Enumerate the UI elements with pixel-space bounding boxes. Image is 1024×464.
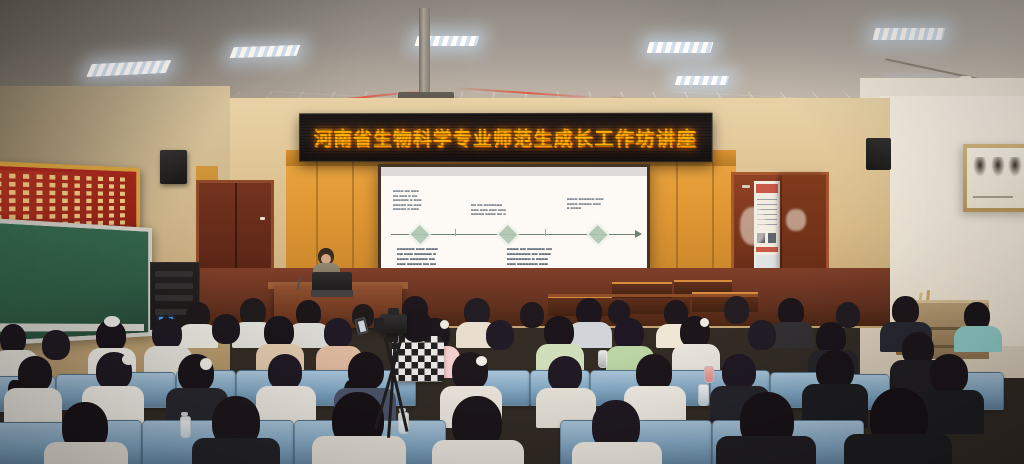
- framed-calligraphy: [963, 144, 1024, 212]
- door-handle-icon[interactable]: [260, 217, 265, 220]
- audience-head: [724, 296, 749, 324]
- projection-screen: ▃▃▃▃ ▃▃ ▃▃▃▃▃ ▃▃▃ ▃ ▃▃▃▃▃▃▃▃ ▃ ▃▃▃▃▃▃▃▃ …: [381, 167, 647, 270]
- presenter-laptop-screen: [312, 272, 352, 292]
- audience-body: [716, 436, 816, 464]
- audience-head: [722, 354, 756, 390]
- slide-text-block: ▃▃▃▃ ▃▃▃▃▃▃ ▃▃▃▃▃▃▃ ▃▃▃▃▃ ▃▃▃▃ ▃▃▃▃: [567, 196, 629, 210]
- audience-body: [954, 326, 1002, 352]
- audience-area: [0, 296, 1024, 464]
- audience-head: [930, 354, 968, 394]
- hair-clip: [700, 318, 709, 327]
- poster-footer: [756, 247, 778, 252]
- wall-speaker-icon: [866, 138, 891, 170]
- audience-head: [486, 320, 514, 350]
- timeline-node-marker: [586, 222, 611, 247]
- water-bottle[interactable]: [598, 350, 608, 368]
- hair-tie: [200, 358, 212, 370]
- tripod-head[interactable]: [386, 333, 398, 342]
- rack-unit: [155, 283, 193, 289]
- water-bottle[interactable]: [704, 366, 714, 383]
- poster-image: [768, 233, 776, 243]
- audience-body: [192, 438, 280, 464]
- timeline-node-marker: [496, 222, 521, 247]
- audience-body: [770, 322, 814, 348]
- audience-head: [324, 318, 352, 348]
- calligraphy-canvas: [967, 148, 1024, 208]
- lecture-hall-photo: 河南省生物科学专业师范生成长工作坊讲座 ▃▃▃▃ ▃▃ ▃▃▃▃▃ ▃▃▃ ▃ …: [0, 0, 1024, 464]
- hair-bun: [104, 316, 120, 327]
- timeline-node-marker: [408, 222, 433, 247]
- slide-text-block: ▃▃▃▃ ▃▃ ▃▃▃▃▃▃ ▃▃▃▃▃▃▃▃▃▃ ▃▃ ▃▃▃▃▃▃▃▃▃▃▃…: [507, 246, 587, 270]
- plaque-calligraphy-column: [86, 176, 91, 230]
- audience-head: [892, 296, 919, 325]
- slide-text-block: ▃▃▃▃▃▃ ▃▃▃ ▃▃▃▃▃▃ ▃▃▃ ▃▃▃▃▃▃ ▃▃▃▃▃ ▃▃▃▃▃…: [397, 246, 471, 270]
- panel-light: [675, 76, 730, 85]
- led-scanline-overlay: [300, 114, 712, 162]
- poster-line: [757, 199, 777, 200]
- audience-body: [312, 436, 406, 464]
- phone-screen: [357, 320, 365, 332]
- audience-body: [44, 442, 128, 464]
- hair-clip: [440, 320, 449, 329]
- wall-speaker-icon: [160, 150, 187, 184]
- audience-head: [212, 314, 240, 344]
- audience-head: [18, 356, 52, 392]
- timeline-tick: [455, 229, 456, 236]
- calligraphy-character: [973, 157, 987, 177]
- bottle-cap: [181, 412, 188, 416]
- water-bottle[interactable]: [180, 416, 191, 438]
- plaque-calligraphy-column: [98, 177, 103, 230]
- plaque-calligraphy-column: [120, 177, 125, 228]
- slide-text-block: ▃▃▃▃ ▃▃ ▃▃▃▃▃ ▃▃▃ ▃ ▃▃▃▃▃▃▃▃ ▃ ▃▃▃▃▃▃▃▃ …: [393, 188, 455, 211]
- door-plate-icon: [742, 185, 750, 188]
- plaque-calligraphy-column: [74, 176, 79, 230]
- door-smudge: [786, 209, 806, 231]
- audience-body: [572, 442, 662, 464]
- audience-head: [748, 320, 776, 350]
- hair-clip: [122, 354, 135, 365]
- plaque-calligraphy-column: [109, 177, 114, 229]
- audience-head: [548, 356, 582, 392]
- camera-handle: [388, 308, 399, 315]
- panel-light: [873, 28, 946, 40]
- projector-mount-pole: [419, 8, 430, 94]
- door-smudge: [740, 207, 766, 245]
- video-camera[interactable]: [380, 314, 407, 334]
- audience-body: [844, 434, 952, 464]
- poster-heading: [756, 184, 778, 193]
- audience-head: [42, 330, 70, 360]
- panel-light: [646, 42, 713, 53]
- water-bottle[interactable]: [698, 384, 709, 406]
- timeline-tick: [545, 229, 546, 236]
- projection-screen-frame: ▃▃▃▃ ▃▃ ▃▃▃▃▃ ▃▃▃ ▃ ▃▃▃▃▃▃▃▃ ▃ ▃▃▃▃▃▃▃▃ …: [378, 164, 650, 273]
- calligraphy-signature: [973, 196, 1013, 198]
- audience-head: [268, 354, 302, 390]
- rack-unit: [155, 271, 193, 277]
- presentation-slide: ▃▃▃▃ ▃▃ ▃▃▃▃▃ ▃▃▃ ▃ ▃▃▃▃▃▃▃▃ ▃ ▃▃▃▃▃▃▃▃ …: [381, 176, 647, 270]
- poster-line: [757, 204, 777, 205]
- audience-head: [520, 302, 544, 328]
- audience-body: [432, 440, 524, 464]
- slide-text-block: ▃▃ ▃▃ ▃▃▃▃▃▃▃▃▃▃ ▃▃▃ ▃▃▃ ▃▃▃▃▃▃▃▃ ▃▃▃▃ ▃…: [471, 202, 539, 216]
- timeline-arrow-icon: [635, 230, 642, 238]
- camera-lens-icon: [374, 318, 384, 330]
- calligraphy-character: [1008, 157, 1022, 177]
- calligraphy-character: [991, 157, 1005, 177]
- hair-clip: [476, 356, 487, 366]
- led-banner: 河南省生物科学专业师范生成长工作坊讲座: [299, 113, 713, 163]
